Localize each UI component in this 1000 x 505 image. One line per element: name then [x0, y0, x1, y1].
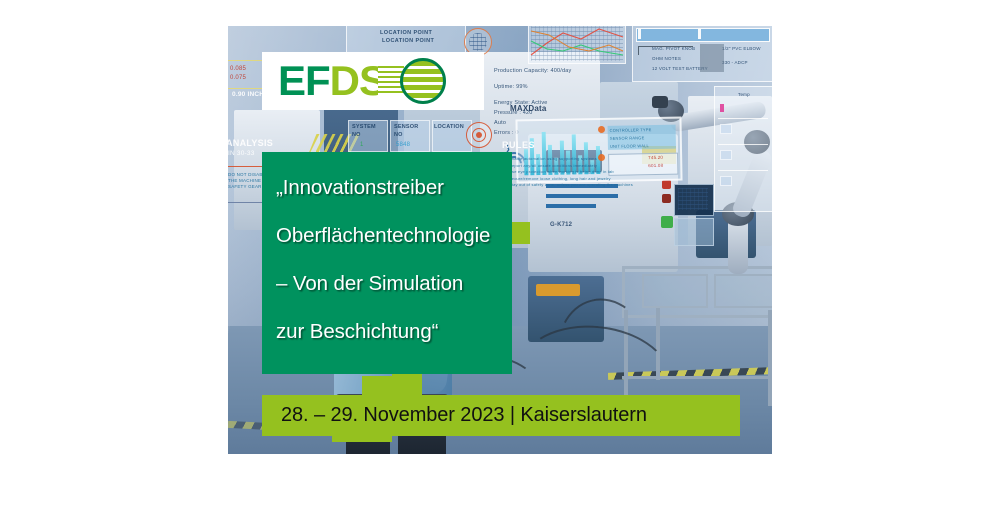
logo-circle-icon — [400, 58, 446, 104]
efds-wordmark: EFDS — [278, 60, 386, 102]
title-line-4: zur Beschichtung“ — [276, 308, 508, 356]
event-date-text: 28. – 29. November 2023 | Kaiserslautern — [281, 404, 647, 427]
title-line-2: Oberflächentechnologie — [276, 212, 508, 260]
efds-globe-mark — [400, 58, 446, 104]
efds-logo-box: EFDS — [262, 52, 484, 110]
poster-canvas: 0.085 0.075 INCH 0.90 INCH ANALYSIS IN 3… — [0, 0, 1000, 505]
event-date-bar: 28. – 29. November 2023 | Kaiserslautern — [262, 395, 740, 436]
event-title: „Innovationstreiber Oberflächentechnolog… — [276, 164, 508, 356]
title-line-3: – Von der Simulation — [276, 260, 508, 308]
event-banner: 0.085 0.075 INCH 0.90 INCH ANALYSIS IN 3… — [228, 26, 772, 454]
efds-wordmark-part1: EF — [278, 57, 330, 104]
step-block — [512, 222, 530, 244]
title-line-1: „Innovationstreiber — [276, 164, 508, 212]
